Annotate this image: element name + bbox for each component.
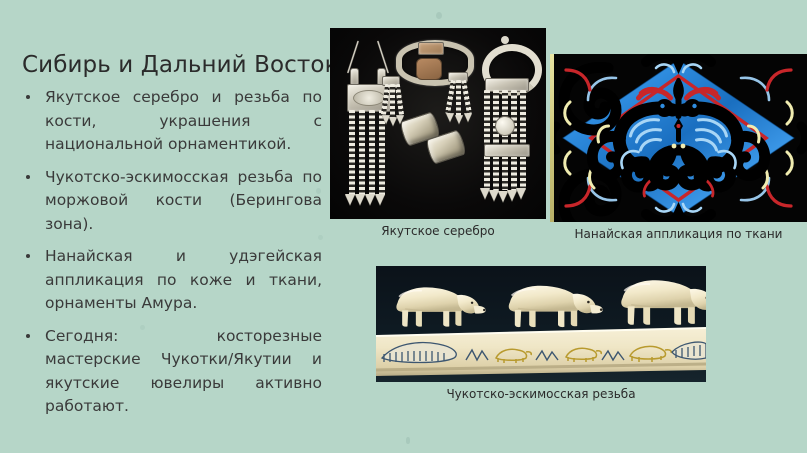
silver-crossbar bbox=[484, 144, 530, 157]
silver-fringe-strand bbox=[520, 90, 526, 190]
silver-fringe-strand bbox=[349, 110, 355, 196]
carved-bear bbox=[621, 280, 706, 325]
silver-belt-medallion bbox=[416, 58, 442, 80]
list-item-text: Сегодня: косторезные мастерские Чукотки/… bbox=[45, 327, 322, 416]
silver-plate-engraving bbox=[353, 90, 385, 106]
silver-fringe-strand bbox=[511, 90, 517, 190]
figure-yakut-silver: Якутское серебро bbox=[330, 28, 546, 239]
bullet-dot-icon bbox=[26, 254, 30, 258]
silver-fan-strand bbox=[390, 84, 395, 118]
silver-fringe-strand bbox=[493, 90, 499, 190]
list-item: Сегодня: косторезные мастерские Чукотки/… bbox=[22, 325, 322, 419]
silver-center-medallion bbox=[495, 116, 515, 136]
image-chukchi-carving bbox=[376, 266, 706, 382]
silver-tassel-tip bbox=[446, 113, 454, 122]
bullet-dot-icon bbox=[26, 175, 30, 179]
bullet-dot-icon bbox=[26, 334, 30, 338]
silver-tassel-tip bbox=[365, 194, 375, 205]
figure-caption-yakut-silver: Якутское серебро bbox=[330, 224, 546, 239]
silver-torque-clasp bbox=[501, 36, 509, 44]
list-item-text: Якутское серебро и резьба по кости, укра… bbox=[45, 88, 322, 153]
silver-fan-strand bbox=[456, 80, 461, 116]
list-item: Нанайская и удэгейская аппликация по кож… bbox=[22, 245, 322, 316]
list-item: Якутское серебро и резьба по кости, укра… bbox=[22, 86, 322, 157]
slide: Сибирь и Дальний Восток Якутское серебро… bbox=[0, 0, 807, 453]
carved-bear bbox=[396, 287, 485, 326]
nanai-gold-edge-strip bbox=[550, 54, 554, 222]
silver-fringe-strand bbox=[369, 110, 375, 196]
silver-tassel-tip bbox=[516, 188, 526, 199]
text-column: Сибирь и Дальний Восток Якутское серебро… bbox=[22, 50, 322, 419]
nanai-ornament-svg bbox=[550, 54, 807, 222]
silver-tassel-tip bbox=[455, 115, 463, 124]
carved-bear bbox=[509, 286, 603, 327]
silver-fringe-strand bbox=[359, 110, 365, 196]
image-yakut-silver bbox=[330, 28, 546, 219]
silver-tassel-tip bbox=[375, 194, 385, 205]
list-item-text: Чукотско-эскимосская резьба по моржовой … bbox=[45, 168, 322, 233]
silver-fringe-strand bbox=[502, 90, 508, 190]
bullet-list: Якутское серебро и резьба по кости, укра… bbox=[22, 86, 322, 419]
figure-caption-chukchi-carving: Чукотско-эскимосская резьба bbox=[376, 387, 706, 402]
figure-nanai-applique: Нанайская аппликация по ткани bbox=[550, 54, 807, 242]
figure-chukchi-carving: Чукотско-эскимосская резьба bbox=[376, 266, 706, 402]
image-nanai-applique bbox=[550, 54, 807, 222]
list-item-text: Нанайская и удэгейская аппликация по кож… bbox=[45, 247, 322, 312]
silver-tassel-tip bbox=[345, 194, 355, 205]
figure-caption-nanai-applique: Нанайская аппликация по ткани bbox=[550, 227, 807, 242]
artifact-speck bbox=[406, 437, 410, 444]
silver-tassel-tip bbox=[355, 194, 365, 205]
list-item: Чукотско-эскимосская резьба по моржовой … bbox=[22, 166, 322, 237]
artifact-speck bbox=[436, 12, 442, 19]
silver-tassel-tip bbox=[464, 113, 472, 122]
silver-belt-buckle bbox=[418, 42, 444, 55]
page-title: Сибирь и Дальний Восток bbox=[22, 50, 322, 80]
chukchi-carving-svg bbox=[376, 266, 706, 382]
bullet-dot-icon bbox=[26, 95, 30, 99]
silver-fringe-strand bbox=[484, 90, 490, 190]
